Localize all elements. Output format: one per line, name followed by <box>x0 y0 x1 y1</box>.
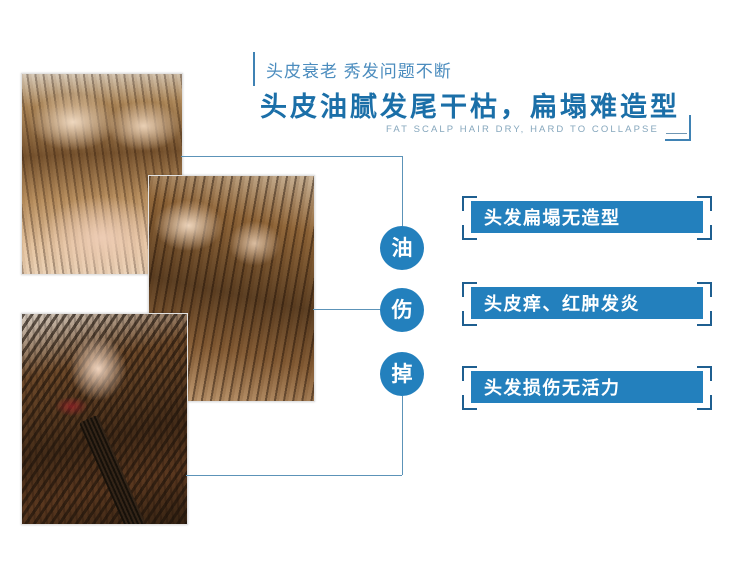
header-english-subtitle: FAT SCALP HAIR DRY, HARD TO COLLAPSE <box>386 124 659 135</box>
label-bar-flat-hair-text: 头发扁塌无造型 <box>471 201 703 233</box>
badge-damage[interactable]: 伤 <box>380 288 424 332</box>
header-corner-bracket <box>665 115 691 141</box>
infographic-canvas: 头皮衰老 秀发问题不断 头皮油腻发尾干枯，扁塌难造型 FAT SCALP HAI… <box>0 0 750 576</box>
header-vertical-rule <box>253 52 255 86</box>
header-subtitle: 头皮衰老 秀发问题不断 <box>266 57 452 82</box>
badge-fall-label: 掉 <box>392 364 413 385</box>
badge-oil-label: 油 <box>392 238 413 259</box>
connector-middle-horizontal <box>313 309 381 310</box>
page-title: 头皮油腻发尾干枯，扁塌难造型 <box>260 85 680 124</box>
connector-bottom-vertical <box>402 396 403 475</box>
photo-brushing-hair <box>21 313 188 525</box>
label-bar-itchy-scalp[interactable]: 头皮痒、红肿发炎 <box>462 282 712 326</box>
badge-oil[interactable]: 油 <box>380 226 424 270</box>
badge-damage-label: 伤 <box>392 300 413 321</box>
photo-brushing-hair-image <box>22 314 187 524</box>
connector-bottom-horizontal <box>186 475 402 476</box>
label-bar-damaged-hair-text: 头发损伤无活力 <box>471 371 703 403</box>
label-bar-flat-hair[interactable]: 头发扁塌无造型 <box>462 196 712 240</box>
connector-top-vertical <box>402 156 403 226</box>
label-bar-damaged-hair[interactable]: 头发损伤无活力 <box>462 366 712 410</box>
label-bar-itchy-scalp-text: 头皮痒、红肿发炎 <box>471 287 703 319</box>
badge-fall[interactable]: 掉 <box>380 352 424 396</box>
connector-top-horizontal <box>181 156 402 157</box>
